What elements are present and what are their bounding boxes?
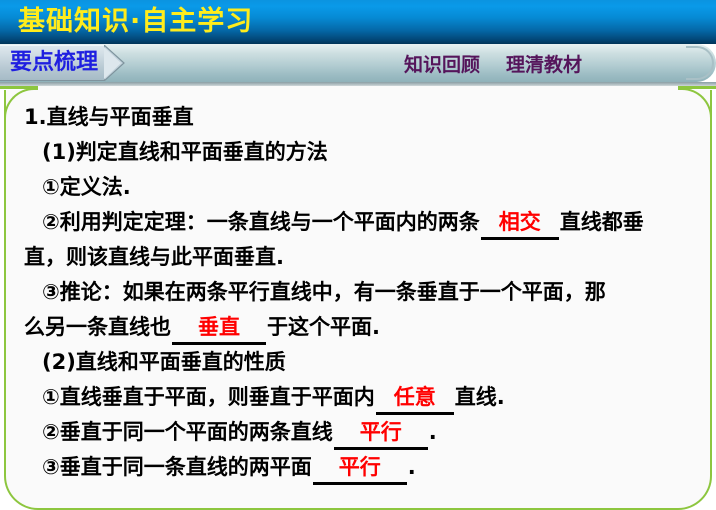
- line-3a-post: 直线都垂: [560, 210, 644, 234]
- line-3a-pre: ②利用判定定理：一条直线与一个平面内的两条: [42, 210, 480, 234]
- content-line-4a: ③推论：如果在两条平行直线中，有一条垂直于一个平面，那: [0, 275, 716, 310]
- line-6-pre: ①直线垂直于平面，则垂直于平面内: [42, 385, 375, 409]
- content-line-2: ①定义法.: [0, 170, 716, 205]
- content-line-6: ①直线垂直于平面，则垂直于平面内任意直线.: [0, 380, 716, 415]
- content-line-1: (1)判定直线和平面垂直的方法: [0, 135, 716, 170]
- blank-answer-chuizhi: 垂直: [172, 312, 266, 345]
- tab-label: 要点梳理: [10, 46, 98, 80]
- subbar-right-item-1: 理清教材: [506, 50, 582, 77]
- content-line-5: (2)直线和平面垂直的性质: [0, 345, 716, 380]
- content-line-4b: 么另一条直线也垂直于这个平面.: [0, 310, 716, 345]
- blank-answer-pingxing-2: 平行: [313, 452, 407, 485]
- tab-body[interactable]: 要点梳理: [0, 45, 104, 81]
- subbar-right-item-0: 知识回顾: [404, 50, 480, 77]
- content-heading: 1.直线与平面垂直: [0, 100, 716, 135]
- content-line-3a: ②利用判定定理：一条直线与一个平面内的两条相交直线都垂: [0, 205, 716, 240]
- content-body: 1.直线与平面垂直 (1)判定直线和平面垂直的方法 ①定义法. ②利用判定定理：…: [0, 92, 716, 501]
- blank-answer-pingxing-1: 平行: [334, 417, 428, 450]
- line-7-pre: ②垂直于同一个平面的两条直线: [42, 420, 333, 444]
- content-line-3b: 直，则该直线与此平面垂直.: [0, 240, 716, 275]
- line-6-post: 直线.: [455, 385, 505, 409]
- subbar-right-labels: 知识回顾 理清教材: [404, 46, 672, 80]
- chevron-right-icon: [104, 45, 140, 81]
- line-8-pre: ③垂直于同一条直线的两平面: [42, 455, 312, 479]
- blank-answer-xiangjiao: 相交: [481, 207, 559, 240]
- blank-answer-renyi: 任意: [376, 382, 454, 415]
- banner: 基础知识·自主学习: [0, 0, 716, 44]
- line-4b-pre: 么另一条直线也: [24, 315, 171, 339]
- line-4b-post: 于这个平面.: [267, 315, 380, 339]
- slide-root: 基础知识·自主学习 要点梳理 知识回顾 理清教材 1.直线与平面垂直 (1)判定…: [0, 0, 716, 501]
- tab-key-points[interactable]: 要点梳理: [0, 45, 140, 81]
- banner-title: 基础知识·自主学习: [18, 2, 253, 42]
- line-8-post: .: [408, 455, 416, 479]
- content-line-7: ②垂直于同一个平面的两条直线平行.: [0, 415, 716, 450]
- content-line-8: ③垂直于同一条直线的两平面平行.: [0, 450, 716, 485]
- line-7-post: .: [429, 420, 437, 444]
